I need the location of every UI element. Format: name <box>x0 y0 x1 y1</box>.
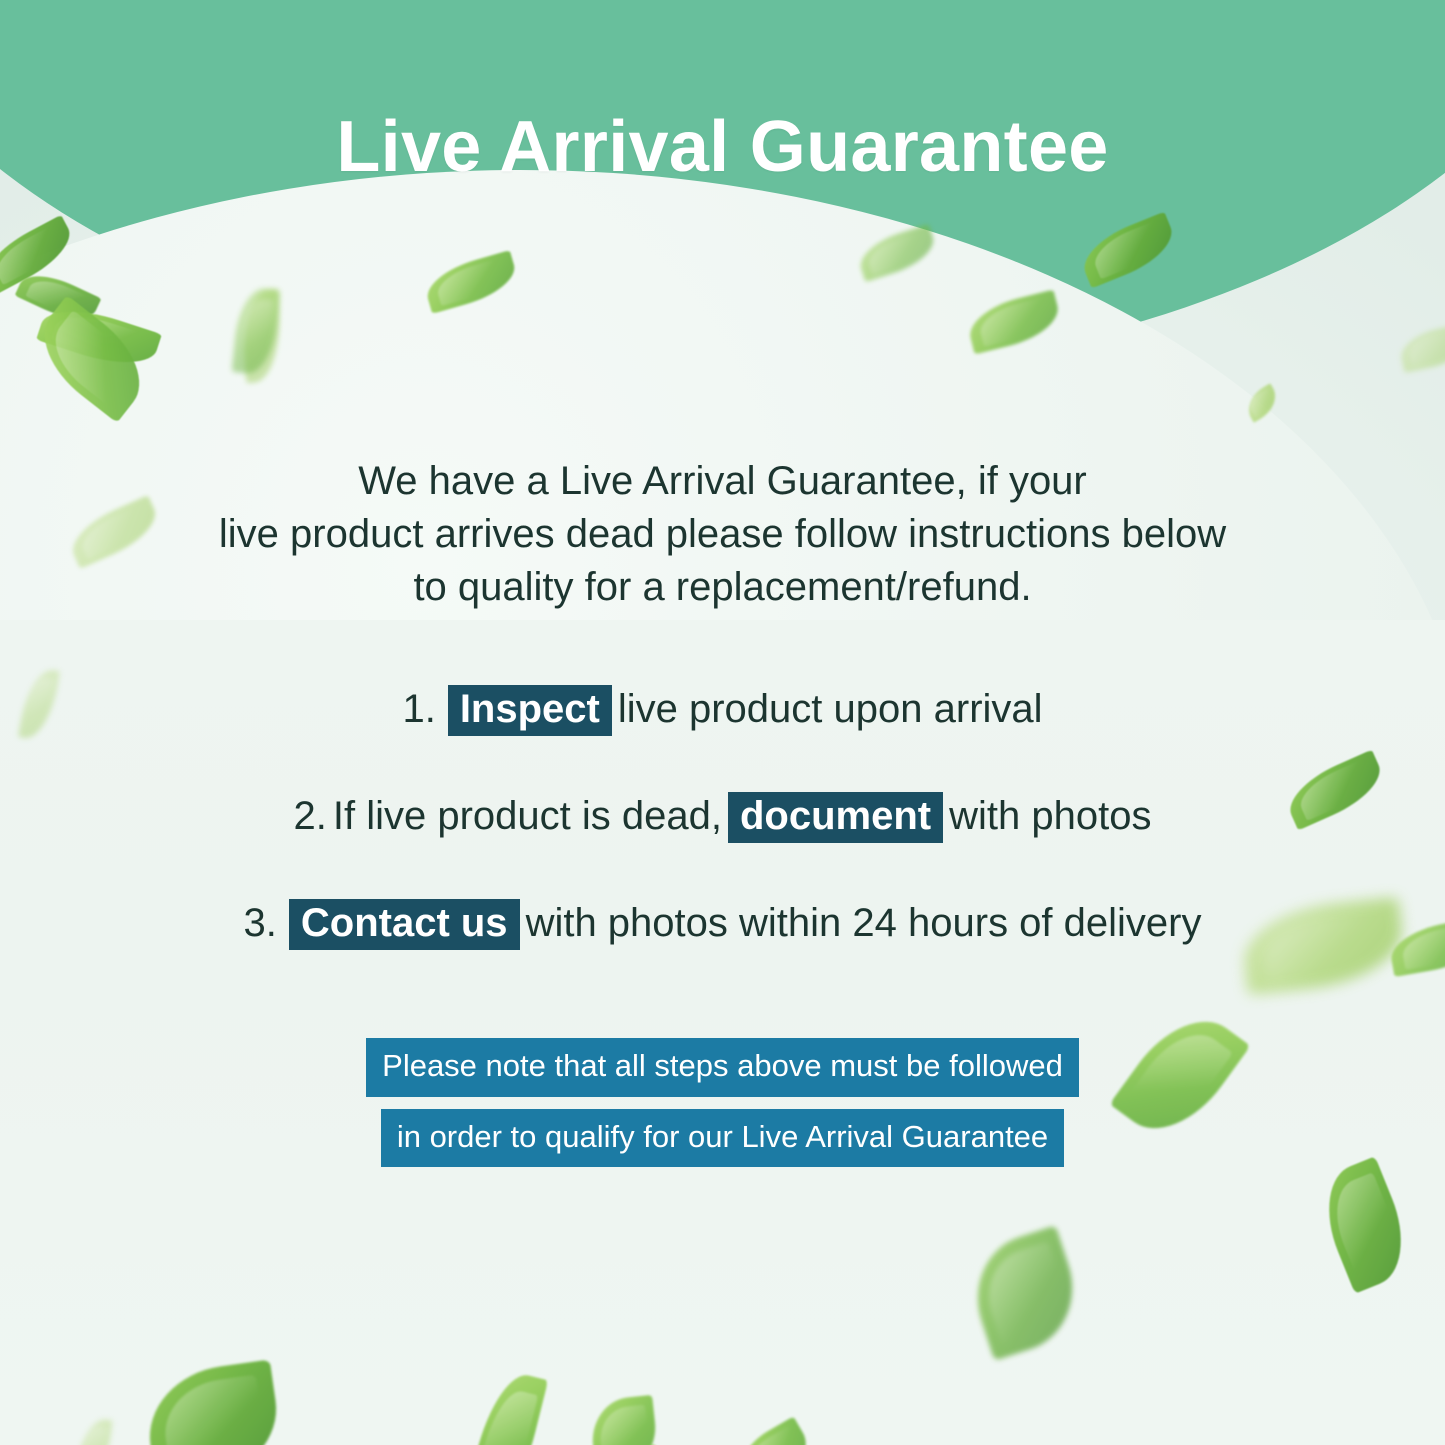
step-item-2: 2.If live product is dead,documentwith p… <box>0 792 1445 843</box>
note-line-2: in order to qualify for our Live Arrival… <box>381 1109 1064 1168</box>
step-number: 1. <box>402 687 435 731</box>
live-arrival-guarantee-poster: Live Arrival Guarantee We have a Live Ar… <box>0 0 1445 1445</box>
step-item-1: 1.Inspectlive product upon arrival <box>0 685 1445 736</box>
step-number: 3. <box>244 901 277 945</box>
intro-line-3: to quality for a replacement/refund. <box>153 561 1293 614</box>
page-title: Live Arrival Guarantee <box>0 110 1445 186</box>
main-content: We have a Live Arrival Guarantee, if you… <box>0 455 1445 1167</box>
step-text-pre: If live product is dead, <box>333 794 722 838</box>
note-line-1: Please note that all steps above must be… <box>366 1038 1079 1097</box>
step-item-3: 3.Contact uswith photos within 24 hours … <box>0 899 1445 950</box>
step-text: with photos <box>949 794 1151 838</box>
step-text: live product upon arrival <box>618 687 1043 731</box>
step-highlight-document[interactable]: document <box>728 792 943 843</box>
intro-paragraph: We have a Live Arrival Guarantee, if you… <box>153 455 1293 613</box>
notes-block: Please note that all steps above must be… <box>0 1038 1445 1167</box>
step-highlight-contact-us[interactable]: Contact us <box>289 899 520 950</box>
intro-line-2: live product arrives dead please follow … <box>153 508 1293 561</box>
step-highlight-inspect[interactable]: Inspect <box>448 685 612 736</box>
steps-list: 1.Inspectlive product upon arrival 2.If … <box>0 685 1445 950</box>
step-number: 2. <box>294 794 327 838</box>
step-text: with photos within 24 hours of delivery <box>526 901 1202 945</box>
intro-line-1: We have a Live Arrival Guarantee, if you… <box>153 455 1293 508</box>
